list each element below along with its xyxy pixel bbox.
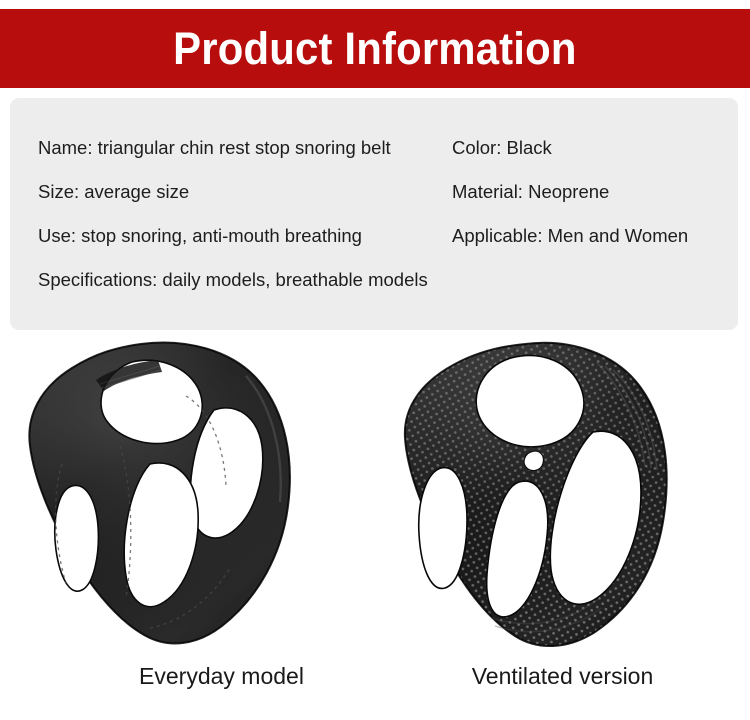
spec-list: Name: triangular chin rest stop snoring … [10, 126, 738, 330]
spec-row: Use: stop snoring, anti-mouth breathing … [10, 214, 738, 258]
spec-applicable: Applicable: Men and Women [452, 214, 688, 258]
product-caption-everyday: Everyday model [34, 656, 409, 696]
product-item-everyday[interactable]: Everyday model [0, 336, 375, 720]
product-item-ventilated[interactable]: Ventilated version [375, 336, 750, 720]
product-caption-ventilated: Ventilated version [375, 656, 750, 696]
product-photo-everyday [0, 336, 375, 656]
spec-row: Size: average size Material: Neoprene [10, 170, 738, 214]
page-title: Product Information [173, 26, 576, 71]
chin-strap-ventilated-icon [375, 336, 750, 656]
spec-row: Name: triangular chin rest stop snoring … [10, 126, 738, 170]
spec-color: Color: Black [452, 126, 552, 170]
spec-name: Name: triangular chin rest stop snoring … [38, 126, 391, 170]
spec-specifications: Specifications: daily models, breathable… [38, 258, 428, 302]
spec-size: Size: average size [38, 170, 189, 214]
spec-use: Use: stop snoring, anti-mouth breathing [38, 214, 362, 258]
product-gallery: Everyday model [0, 336, 750, 720]
page-header-banner: Product Information [0, 9, 750, 88]
spec-material: Material: Neoprene [452, 170, 609, 214]
product-photo-ventilated [375, 336, 750, 656]
spec-row: Specifications: daily models, breathable… [10, 258, 738, 302]
product-info-panel: Name: triangular chin rest stop snoring … [10, 98, 738, 330]
chin-strap-everyday-icon [0, 336, 375, 656]
